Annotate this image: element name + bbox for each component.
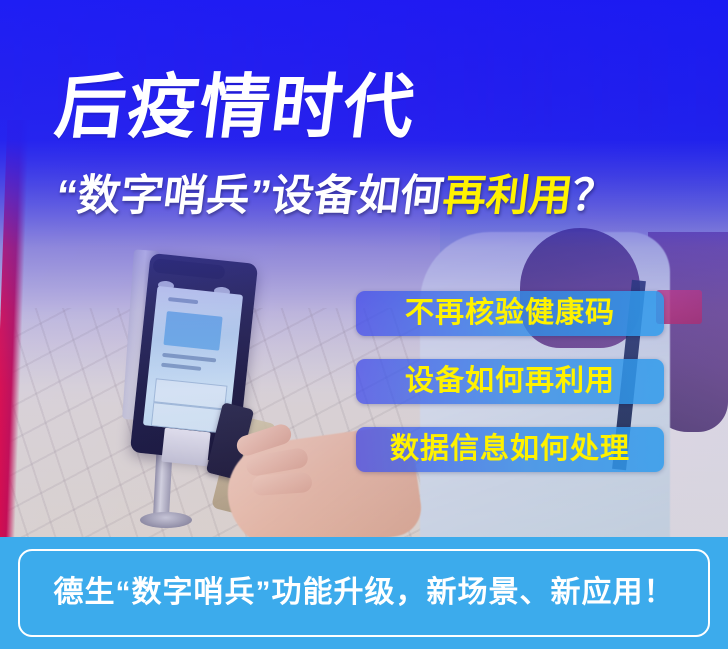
callout-label: 不再核验健康码 <box>405 299 615 328</box>
banner-frame: 德生“数字哨兵”功能升级，新场景、新应用！ <box>18 549 710 637</box>
bottom-banner: 德生“数字哨兵”功能升级，新场景、新应用！ <box>0 537 728 649</box>
promo-poster: 后疫情时代 “数字哨兵”设备如何再利用？ 不再核验健康码 设备如何再利用 数据信… <box>0 0 728 649</box>
callout-list: 不再核验健康码 设备如何再利用 数据信息如何处理 <box>356 291 664 472</box>
page-subtitle: “数字哨兵”设备如何再利用？ <box>53 175 617 218</box>
subtitle-question-mark: ？ <box>569 172 618 220</box>
callout-label: 设备如何再利用 <box>405 367 615 396</box>
callout-item-3[interactable]: 数据信息如何处理 <box>356 427 664 472</box>
callout-item-2[interactable]: 设备如何再利用 <box>356 359 664 404</box>
callout-item-1[interactable]: 不再核验健康码 <box>356 291 664 336</box>
page-title: 后疫情时代 <box>52 72 421 142</box>
subtitle-accent: 再利用 <box>440 172 575 220</box>
callout-label: 数据信息如何处理 <box>390 435 630 464</box>
banner-label: 德生“数字哨兵”功能升级，新场景、新应用！ <box>54 578 675 608</box>
subtitle-lead: “数字哨兵”设备如何 <box>53 172 446 220</box>
